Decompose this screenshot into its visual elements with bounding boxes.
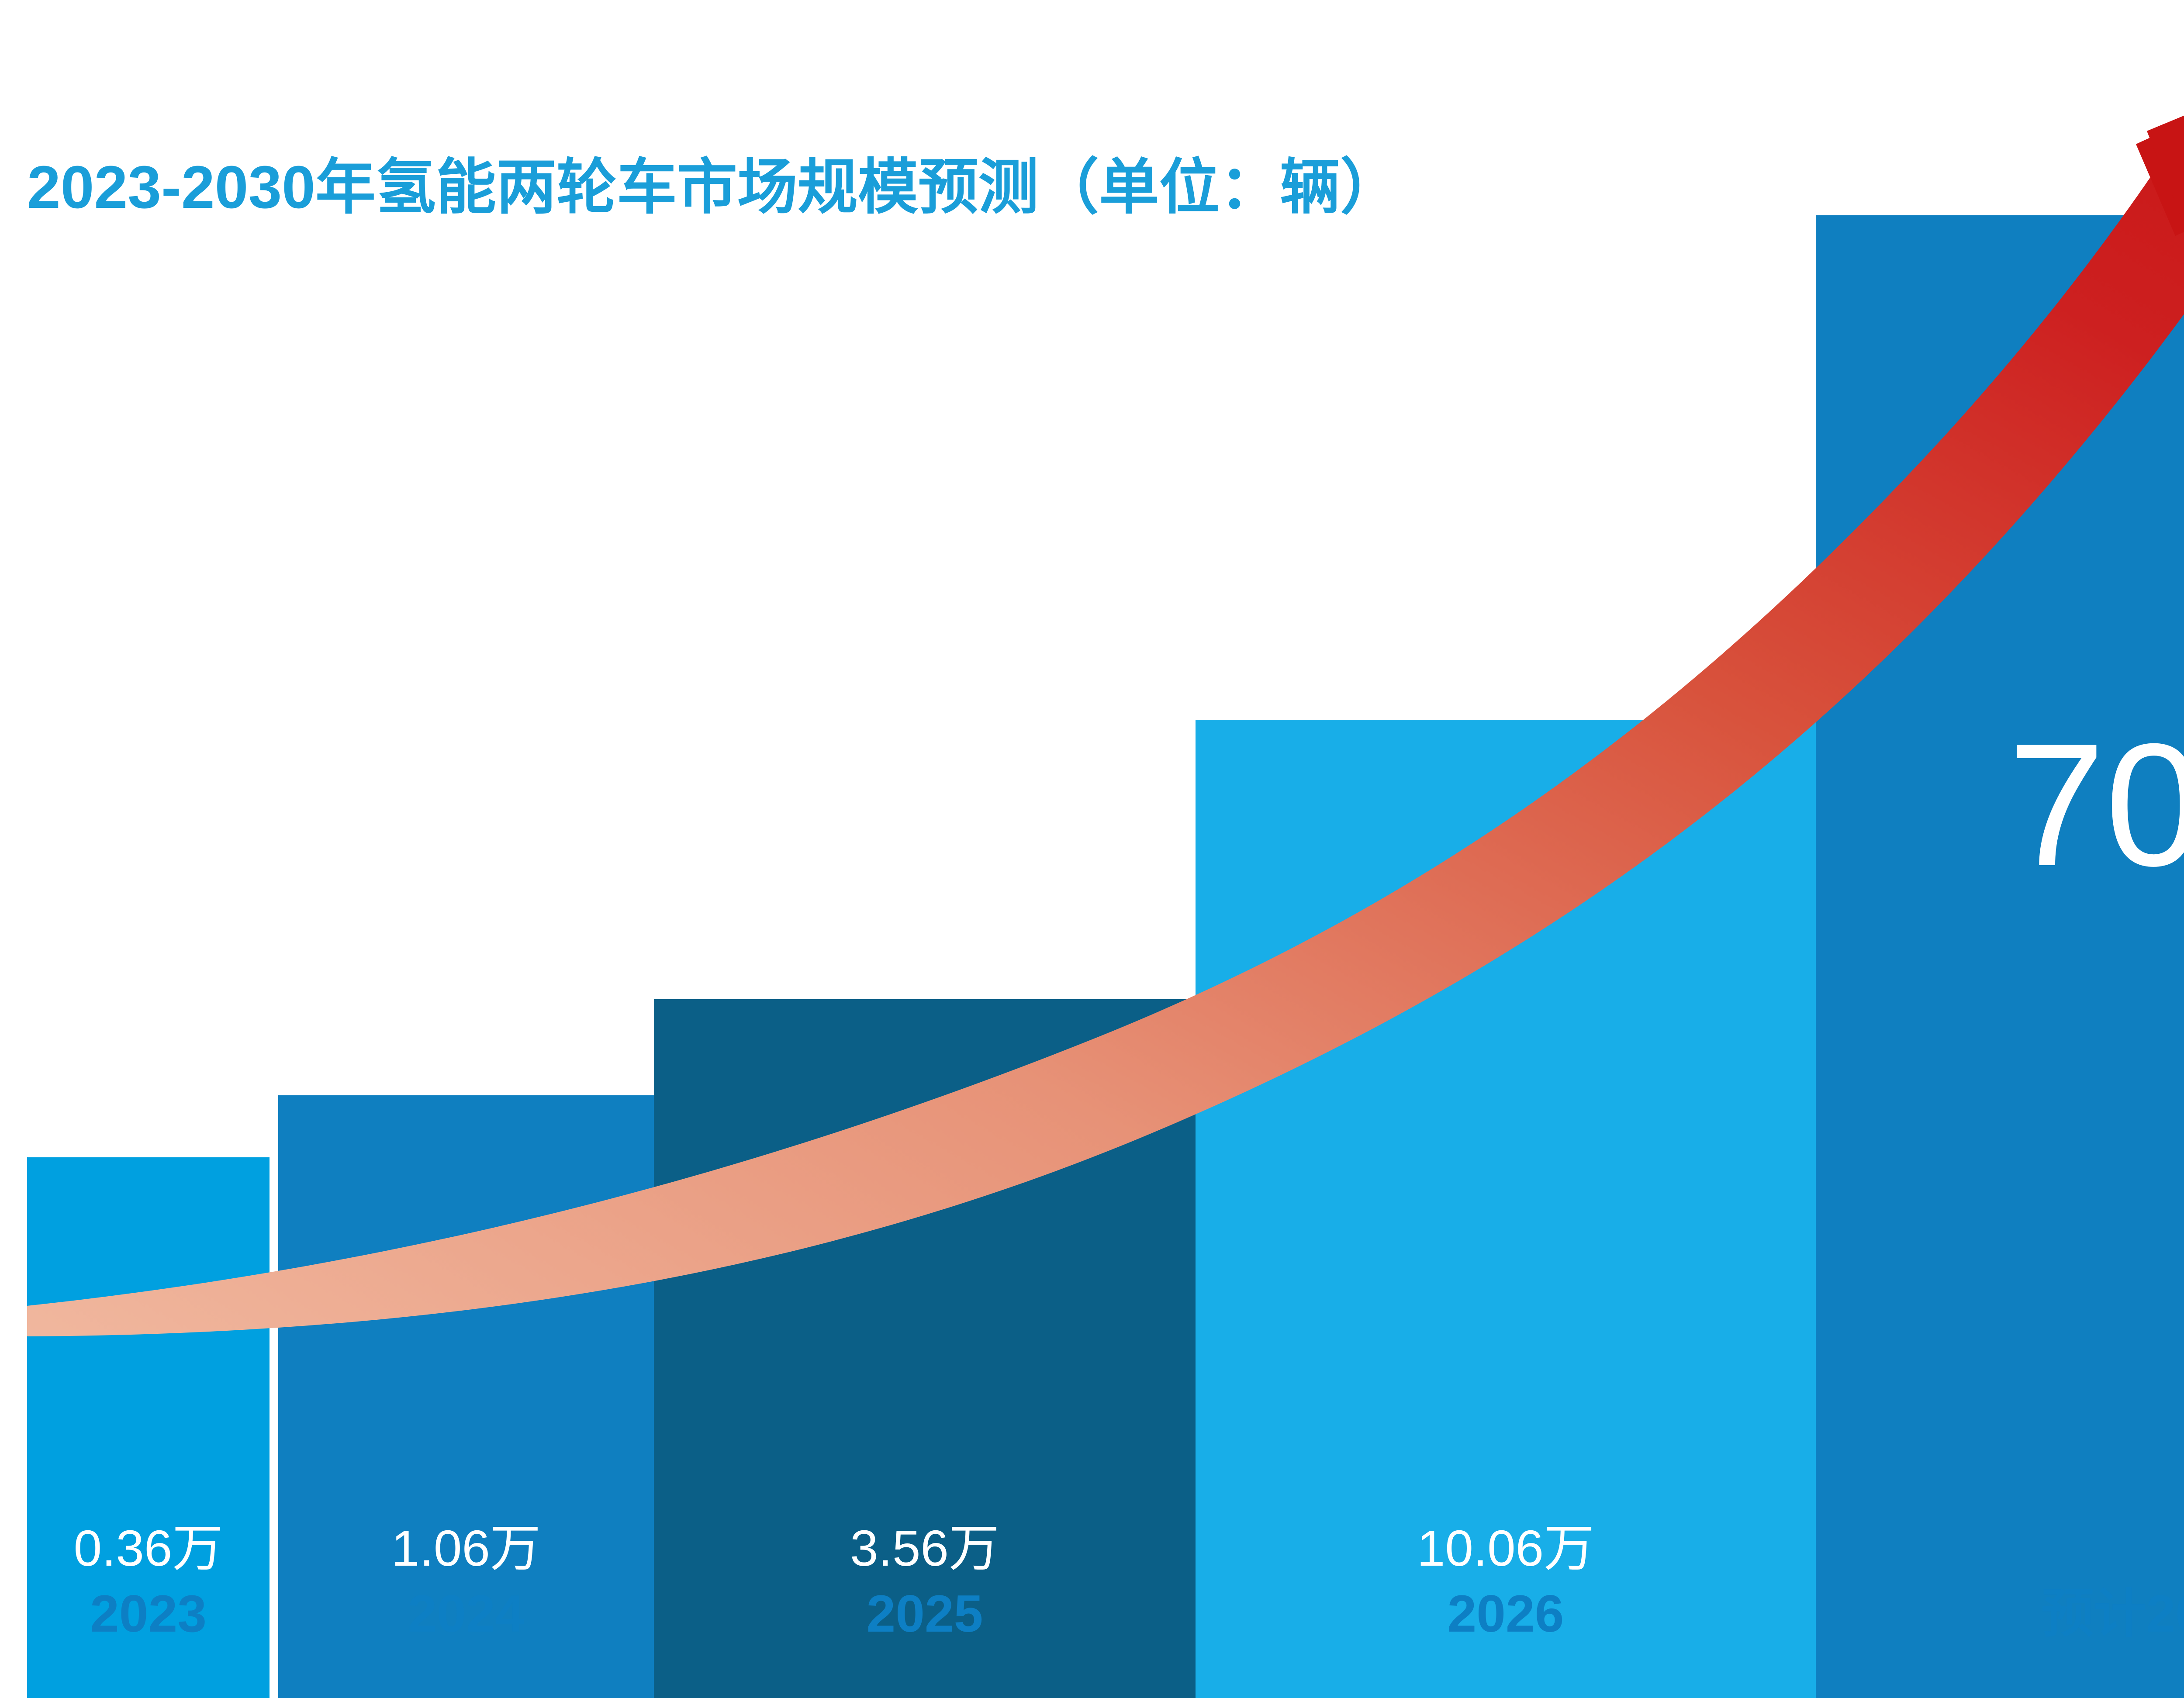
- x-axis-label-2024: 2024: [278, 1588, 654, 1640]
- x-axis-label-2030: 预计2030年增长: [1816, 1588, 2184, 1640]
- x-axis-label-2026: 2026: [1196, 1588, 1816, 1640]
- x-axis-label-2023: 2023: [27, 1588, 270, 1640]
- chart-plot-area: 0.36万 1.06万 3.56万 10.06万 70万: [0, 0, 2184, 1698]
- bar-value-label: 10.06万: [1196, 1523, 1816, 1574]
- bar-2026: 10.06万: [1196, 720, 1816, 1698]
- bar-value-label-2030: 70万: [2008, 718, 2184, 892]
- x-axis-label-2025: 2025: [654, 1588, 1196, 1640]
- bar-value-label: 1.06万: [278, 1523, 654, 1574]
- chart-canvas: 2023-2030年氢能两轮车市场规模预测（单位：辆） 0.36万 1.06万 …: [0, 0, 2184, 1698]
- bar-2030: 70万: [1816, 215, 2184, 1698]
- bar-value-label: 3.56万: [654, 1523, 1196, 1574]
- bar-value-label: 0.36万: [27, 1523, 270, 1574]
